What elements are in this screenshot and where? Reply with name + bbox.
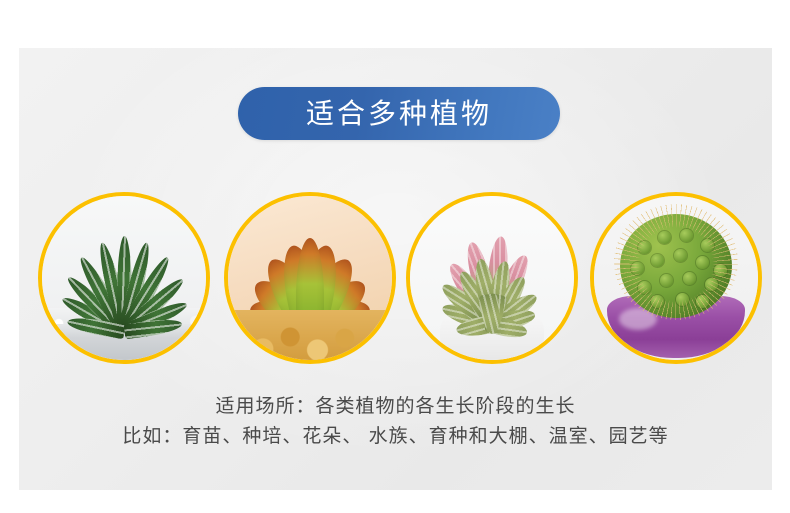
plant-photo-circle-4 (590, 192, 762, 364)
caption-line-1: 适用场所：各类植物的各生长阶段的生长 (19, 392, 772, 422)
promo-banner-page: 适合多种植物 (0, 0, 790, 513)
mammillaria-cactus-photo (594, 196, 758, 360)
echeveria-photo (228, 196, 392, 360)
yellow-gravel (224, 310, 396, 364)
cactus-spines (614, 204, 738, 320)
caption-block: 适用场所：各类植物的各生长阶段的生长 比如：育苗、种培、花朵、 水族、育种和大棚… (19, 392, 772, 452)
plant-photo-circle-3 (406, 192, 578, 364)
plant-photo-circle-1 (38, 192, 210, 364)
caption-line-2: 比如：育苗、种培、花朵、 水族、育种和大棚、温室、园艺等 (19, 422, 772, 452)
plant-photo-gallery (19, 192, 772, 366)
pink-tip-crassula-photo (410, 196, 574, 360)
plant-photo-circle-2 (224, 192, 396, 364)
zebra-haworthia-photo (42, 196, 206, 360)
section-title-text: 适合多种植物 (306, 100, 492, 128)
section-title-banner: 适合多种植物 (238, 87, 560, 140)
